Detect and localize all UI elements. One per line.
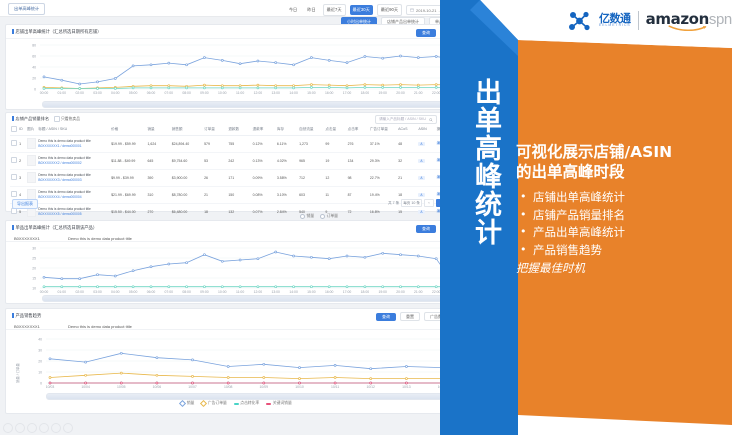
x-tick-label: 02:00 xyxy=(75,290,84,294)
row-checkbox[interactable] xyxy=(11,208,17,214)
product-asin: B0XXXXXXX5 / demo000005 xyxy=(38,212,109,216)
amazon-logo: amazonspn xyxy=(646,10,732,31)
table-cell-6: $9,754.60 xyxy=(171,152,203,169)
svg-text:20: 20 xyxy=(32,77,36,81)
table-col-3: 标题 / ASIN / SKU xyxy=(37,124,110,135)
series-point xyxy=(328,258,330,260)
table-cell-16[interactable]: A xyxy=(417,169,435,186)
brand-sub: EELMETRICS xyxy=(599,24,631,27)
x-tick-label: 11:00 xyxy=(236,91,244,95)
series-point xyxy=(364,286,366,288)
legend-swatch xyxy=(266,403,271,405)
svg-text:30: 30 xyxy=(32,247,36,251)
series-point xyxy=(364,56,366,58)
legend-swatch xyxy=(200,400,207,407)
x-tick-label: 17:00 xyxy=(343,290,352,294)
table-col-15: ACoS xyxy=(397,124,417,135)
series-point xyxy=(400,55,402,57)
table-cell-5: 645 xyxy=(146,152,170,169)
series-point xyxy=(203,84,205,86)
series-point xyxy=(299,378,301,380)
card-product-ranking: 店铺产品销量排名 只看热卖品 请输入产品标题 / ASIN / SKU 搜索 xyxy=(5,112,467,212)
card4-asin: B0XXXXXXX1 xyxy=(14,324,40,329)
table-cell-8: 150 xyxy=(227,186,251,203)
series-point xyxy=(310,84,312,86)
series-point xyxy=(405,366,407,368)
table-col-4: 价格 xyxy=(110,124,146,135)
table-cell-16[interactable]: A xyxy=(417,152,435,169)
table-cell-4: $15.50 - $44.00 xyxy=(110,203,146,220)
series-point xyxy=(85,361,87,363)
table-cell-0[interactable] xyxy=(10,152,18,169)
legend-item-1[interactable]: 广告订单量 xyxy=(201,401,226,406)
row-checkbox[interactable] xyxy=(11,157,17,163)
table-cell-15: 32 xyxy=(397,152,417,169)
x-tick-label: 00:00 xyxy=(40,290,49,294)
poster-bullet-1: 店铺出单高峰统计 xyxy=(516,189,722,207)
chart-single-peak-svg: 3025 201510 00:0001:0002:0003:0004:0005:… xyxy=(6,243,466,297)
series-point xyxy=(417,255,419,257)
series-point xyxy=(221,260,223,262)
table-cell-11: 712 xyxy=(298,169,324,186)
card-store-peak-header: 店铺出单高峰统计（汇总所选日期所有店铺） 查询 重置 xyxy=(6,25,466,39)
x-tick-label: 19:00 xyxy=(378,290,387,294)
select-all-checkbox[interactable] xyxy=(11,126,17,132)
table-cell-8: 132 xyxy=(227,203,251,220)
series-point xyxy=(79,83,81,85)
series-point xyxy=(186,262,188,264)
x-tick-label: 08:00 xyxy=(182,290,191,294)
x-tick-label: 10/11 xyxy=(331,385,339,389)
export-button[interactable]: 导出报表 xyxy=(12,199,38,209)
table-cell-4: $19.99 - $59.99 xyxy=(110,135,146,152)
series-point xyxy=(221,59,223,61)
table-header-row: ID图片标题 / ASIN / SKU价格销量销售额订单量退款数退款率库存自然流… xyxy=(10,124,462,135)
series-point xyxy=(227,377,229,379)
series-point xyxy=(328,59,330,61)
slide-root: 出单高峰统计 今日 昨日 最近7天 最近30天 最近90天 2019-10-21… xyxy=(0,0,732,435)
table-col-13: 点击率 xyxy=(347,124,369,135)
chart-store-peak-scrollbar[interactable] xyxy=(42,101,456,108)
series-point xyxy=(97,81,99,83)
table-cell-14: 37.1% xyxy=(369,135,397,152)
series-point xyxy=(239,63,241,65)
series-point xyxy=(310,286,312,288)
series-point xyxy=(346,62,348,64)
series-point xyxy=(150,286,152,288)
table-search-input[interactable]: 请输入产品标题 / ASIN / SKU xyxy=(375,115,437,124)
x-tick-label: 10/09 xyxy=(260,385,269,389)
series-point xyxy=(43,76,45,78)
x-tick-label: 07:00 xyxy=(165,290,174,294)
table-cell-1: 1 xyxy=(18,135,26,152)
series-point xyxy=(227,366,229,368)
series-point xyxy=(61,286,63,288)
series-point xyxy=(417,86,419,88)
series-point xyxy=(61,79,63,81)
table-cell-5: 390 xyxy=(146,169,170,186)
row-checkbox[interactable] xyxy=(11,191,17,197)
series-point xyxy=(334,364,336,366)
series-point xyxy=(43,286,45,288)
table-cell-3: Demo this is demo data product titleB0XX… xyxy=(37,203,110,220)
filter-7days[interactable]: 最近7天 xyxy=(323,4,346,16)
table-cell-12: 19 xyxy=(324,152,346,169)
social-icon-row xyxy=(3,423,73,433)
table-cell-0[interactable] xyxy=(10,169,18,186)
table-cell-10: 6.11% xyxy=(276,135,298,152)
x-tick-label: 11:00 xyxy=(236,290,244,294)
chart3-radio-group: 销量 订单量 xyxy=(300,214,338,219)
poster-bullet-2: 店铺产品销量排名 xyxy=(516,207,722,225)
x-tick-label: 18:00 xyxy=(361,91,370,95)
table-cell-3: Demo this is demo data product titleB0XX… xyxy=(37,135,110,152)
card-sales-trend: 产品销售趋势 查询 重置 广告数据对比 B0XXXXXXX1 Demo this… xyxy=(5,308,467,414)
x-tick-label: 10/12 xyxy=(366,385,375,389)
play-icon[interactable] xyxy=(15,423,25,433)
table-cell-7: 579 xyxy=(203,135,227,152)
product-asin: B0XXXXXXX2 / demo000002 xyxy=(38,161,109,165)
x-tick-label: 05:00 xyxy=(129,290,138,294)
query-button-4[interactable]: 查询 xyxy=(376,313,396,321)
more-icon[interactable] xyxy=(63,423,73,433)
series-point xyxy=(405,382,407,384)
filter-30days[interactable]: 最近30天 xyxy=(350,5,373,15)
poster-footnote: 把握最佳时机 xyxy=(516,260,722,276)
x-tick-label: 16:00 xyxy=(325,290,334,294)
table-cell-16[interactable]: A xyxy=(417,135,435,152)
chart-store-peak: 8060 40200 00:0001:0002:0003:0004:0005:0… xyxy=(6,39,466,97)
table-cell-6: $3,900.00 xyxy=(171,169,203,186)
filter-90days[interactable]: 最近90天 xyxy=(377,4,402,16)
table-cell-12: 99 xyxy=(324,135,346,152)
x-tick-label: 10/07 xyxy=(188,385,197,389)
table-col-14: 广告订单量 xyxy=(369,124,397,135)
series-point xyxy=(310,86,312,88)
table-col-1: ID xyxy=(18,124,26,135)
asin-tag[interactable]: A xyxy=(418,210,424,214)
radio-orders[interactable]: 订单量 xyxy=(320,214,338,219)
series-point xyxy=(417,84,419,86)
series-point xyxy=(49,377,51,379)
legend-item-3[interactable]: 关键词销量 xyxy=(266,401,291,406)
table-cell-6: $24,894.40 xyxy=(171,135,203,152)
card3-product-title: Demo this is demo data product title xyxy=(68,236,132,241)
x-tick-label: 10:00 xyxy=(218,290,227,294)
series-point xyxy=(114,286,116,288)
x-tick-label: 06:00 xyxy=(147,91,156,95)
query-button[interactable]: 查询 xyxy=(416,29,436,37)
x-tick-label: 17:00 xyxy=(343,91,352,95)
table-header-bar: 店铺产品销量排名 只看热卖品 xyxy=(12,116,80,122)
series-point xyxy=(203,57,205,59)
asin-tag[interactable]: A xyxy=(418,159,424,163)
table-cell-4: $9.99 - $39.99 xyxy=(110,169,146,186)
series-point xyxy=(239,85,241,87)
edit-icon[interactable] xyxy=(27,423,37,433)
zoom-icon[interactable] xyxy=(51,423,61,433)
series-point xyxy=(227,382,229,384)
series-point xyxy=(114,78,116,80)
series-point xyxy=(79,88,81,90)
row-checkbox[interactable] xyxy=(11,174,17,180)
radio-sales[interactable]: 销量 xyxy=(300,214,314,219)
product-thumbnail xyxy=(27,172,36,183)
series-point xyxy=(400,254,402,256)
x-tick-label: 10/04 xyxy=(81,385,90,389)
x-tick-label: 10/06 xyxy=(153,385,162,389)
product-asin: B0XXXXXXX3 / demo000003 xyxy=(38,178,109,182)
x-tick-label: 10/03 xyxy=(46,385,55,389)
chart-sales-trend-scrollbar[interactable] xyxy=(46,393,448,400)
series-point xyxy=(293,255,295,257)
page-prev[interactable]: ‹ xyxy=(424,199,434,207)
series-point xyxy=(382,84,384,86)
series-point xyxy=(156,357,158,359)
series-point xyxy=(334,382,336,384)
table-cell-1: 2 xyxy=(18,152,26,169)
x-tick-label: 04:00 xyxy=(111,290,120,294)
poster-bullet-4: 产品销售趋势 xyxy=(516,242,722,260)
x-tick-label: 01:00 xyxy=(58,91,67,95)
svg-text:0: 0 xyxy=(40,382,42,386)
title-accent-bar xyxy=(12,29,14,34)
series-point xyxy=(168,85,170,87)
table-title: 店铺产品销量排名 xyxy=(12,116,49,122)
poster-vertical-title: 出单高峰统计 xyxy=(462,78,500,246)
series-point xyxy=(186,64,188,66)
series-point xyxy=(168,62,170,64)
poster-headline-2: 的出单高峰时段 xyxy=(516,162,722,182)
series-line-0 xyxy=(44,56,454,84)
chart-sales-trend-legend: 销量广告订单量点击转化率关键词销量 xyxy=(6,401,466,406)
asin-tag[interactable]: A xyxy=(418,176,424,180)
series-point xyxy=(370,382,372,384)
x-tick-label: 06:00 xyxy=(147,290,156,294)
asin-tag[interactable]: A xyxy=(418,142,424,146)
series-point xyxy=(203,254,205,256)
series-point xyxy=(275,85,277,87)
series-point xyxy=(79,286,81,288)
series-point xyxy=(150,85,152,87)
filter-yesterday[interactable]: 昨日 xyxy=(304,5,318,15)
series-point xyxy=(263,382,265,384)
series-point xyxy=(370,368,372,370)
reset-button-4[interactable]: 重置 xyxy=(400,312,420,321)
logo-divider xyxy=(638,11,639,30)
share-icon[interactable] xyxy=(3,423,13,433)
tab-chip[interactable]: 出单高峰统计 xyxy=(8,3,45,15)
poster-text-block: 可视化展示店铺/ASIN 的出单高峰时段 店铺出单高峰统计店铺产品销量排名产品出… xyxy=(516,142,722,276)
table-cell-7: 21 xyxy=(203,186,227,203)
series-point xyxy=(132,270,134,272)
search-icon[interactable] xyxy=(429,118,433,122)
x-tick-label: 08:00 xyxy=(182,91,191,95)
filter-today[interactable]: 今日 xyxy=(286,5,300,15)
series-point xyxy=(382,86,384,88)
table-row[interactable]: 1Demo this is demo data product titleB0X… xyxy=(10,135,462,152)
series-point xyxy=(275,87,277,89)
card3-asin: B0XXXXXXX1 xyxy=(14,236,40,241)
x-tick-label: 18:00 xyxy=(361,290,370,294)
chart-single-peak-scrollbar[interactable] xyxy=(42,295,456,302)
table-cell-8: 242 xyxy=(227,152,251,169)
series-point xyxy=(43,88,45,90)
series-point xyxy=(257,60,259,62)
table-cell-2 xyxy=(26,135,37,152)
series-point xyxy=(257,286,259,288)
table-col-0[interactable] xyxy=(10,124,18,135)
asin-tag[interactable]: A xyxy=(418,193,424,197)
x-tick-label: 13:00 xyxy=(271,91,280,95)
series-point xyxy=(299,367,301,369)
row-checkbox[interactable] xyxy=(11,140,17,146)
svg-text:25: 25 xyxy=(32,257,36,261)
x-tick-label: 20:00 xyxy=(396,91,405,95)
hot-filter-checkbox[interactable]: 只看热卖品 xyxy=(54,116,80,122)
x-tick-label: 14:00 xyxy=(289,290,298,294)
series-point xyxy=(275,62,277,64)
series-point xyxy=(114,88,116,90)
series-point xyxy=(328,286,330,288)
series-point xyxy=(203,286,205,288)
table-cell-13: 87 xyxy=(347,186,369,203)
table-cell-4: $21.99 - $69.99 xyxy=(110,186,146,203)
series-point xyxy=(257,87,259,89)
x-tick-label: 10/13 xyxy=(402,385,411,389)
add-icon[interactable] xyxy=(39,423,49,433)
table-col-5: 销量 xyxy=(146,124,170,135)
series-point xyxy=(382,252,384,254)
x-tick-label: 03:00 xyxy=(93,290,102,294)
series-point xyxy=(168,263,170,265)
series-point xyxy=(364,256,366,258)
series-point xyxy=(192,359,194,361)
series-point xyxy=(346,85,348,87)
series-point xyxy=(275,251,277,253)
chart-sales-trend: 4030 20100 10/0310/0410/0510/0610/0710/0… xyxy=(6,333,466,391)
x-tick-label: 13:00 xyxy=(271,290,280,294)
table-search-placeholder: 请输入产品标题 / ASIN / SKU xyxy=(379,117,426,122)
series-point xyxy=(435,286,437,288)
checkbox-icon xyxy=(54,116,60,122)
table-cell-10: 3.10% xyxy=(276,186,298,203)
series-point xyxy=(150,266,152,268)
table-col-11: 自然流量 xyxy=(298,124,324,135)
series-point xyxy=(239,87,241,89)
table-cell-10: 3.58% xyxy=(276,169,298,186)
series-point xyxy=(400,84,402,86)
legend-item-0[interactable]: 销量 xyxy=(180,401,194,406)
table-cell-5: 270 xyxy=(146,203,170,220)
legend-label: 点击转化率 xyxy=(240,401,259,406)
svg-text:20: 20 xyxy=(38,360,42,364)
table-cell-2 xyxy=(26,169,37,186)
series-line-1 xyxy=(50,373,442,379)
series-point xyxy=(61,278,63,280)
table-cell-9: 0.09% xyxy=(252,169,276,186)
series-point xyxy=(417,57,419,59)
series-point xyxy=(192,382,194,384)
svg-text:80: 80 xyxy=(32,44,36,48)
table-cell-13: 134 xyxy=(347,152,369,169)
series-point xyxy=(61,88,63,90)
table-row[interactable]: 3Demo this is demo data product titleB0X… xyxy=(10,169,462,186)
series-point xyxy=(239,286,241,288)
series-point xyxy=(114,275,116,277)
query-button-3[interactable]: 查询 xyxy=(416,225,436,233)
card-store-peak-title: 店铺出单高峰统计（汇总所选日期所有店铺） xyxy=(12,29,101,35)
table-col-6: 销售额 xyxy=(171,124,203,135)
series-point xyxy=(364,84,366,86)
table-cell-15: 48 xyxy=(397,135,417,152)
table-cell-12: 12 xyxy=(324,169,346,186)
series-point xyxy=(417,286,419,288)
x-tick-label: 20:00 xyxy=(396,290,405,294)
table-cell-2 xyxy=(26,152,37,169)
table-cell-0[interactable] xyxy=(10,135,18,152)
page-size-select[interactable]: 每页 10 条 xyxy=(401,199,422,207)
card-single-peak: 单品出单高峰统计（汇总所选日期该产品） 查询 重置 B0XXXXXXX1 Dem… xyxy=(5,220,467,304)
svg-text:60: 60 xyxy=(32,55,36,59)
product-thumbnail xyxy=(27,138,36,149)
series-point xyxy=(168,286,170,288)
x-tick-label: 01:00 xyxy=(58,290,67,294)
product-thumbnail xyxy=(27,155,36,166)
legend-item-2[interactable]: 点击转化率 xyxy=(234,401,259,406)
series-point xyxy=(400,286,402,288)
series-point xyxy=(203,87,205,89)
series-point xyxy=(346,286,348,288)
table-cell-9: 0.07% xyxy=(252,203,276,220)
table-col-2: 图片 xyxy=(26,124,37,135)
series-point xyxy=(382,57,384,59)
table-cell-7: 18 xyxy=(203,203,227,220)
series-point xyxy=(132,65,134,67)
legend-swatch xyxy=(234,403,239,405)
chart-store-peak-svg: 8060 40200 00:0001:0002:0003:0004:0005:0… xyxy=(6,39,466,97)
date-start: 2019-10-21 xyxy=(416,8,436,13)
x-tick-label: 10/10 xyxy=(295,385,304,389)
series-point xyxy=(156,374,158,376)
table-cell-13: 276 xyxy=(347,135,369,152)
poster-panel: 亿数通 EELMETRICS amazonspn 出单高峰统计 可视化展示店铺/… xyxy=(440,0,732,435)
series-point xyxy=(156,382,158,384)
table-row[interactable]: 2Demo this is demo data product titleB0X… xyxy=(10,152,462,169)
series-point xyxy=(221,87,223,89)
series-point xyxy=(382,286,384,288)
series-point xyxy=(132,286,134,288)
x-tick-label: 10/05 xyxy=(117,385,126,389)
series-point xyxy=(221,286,223,288)
series-point xyxy=(310,57,312,59)
product-thumbnail xyxy=(27,189,36,200)
table-cell-14: 29.3% xyxy=(369,152,397,169)
x-tick-label: 09:00 xyxy=(200,290,209,294)
poster-bullet-3: 产品出单高峰统计 xyxy=(516,224,722,242)
series-point xyxy=(97,274,99,276)
table-col-9: 退款率 xyxy=(252,124,276,135)
table-cell-9: 0.13% xyxy=(252,152,276,169)
logo-lockup: 亿数通 EELMETRICS amazonspn xyxy=(568,10,732,31)
x-tick-label: 19:00 xyxy=(378,91,387,95)
svg-text:30: 30 xyxy=(38,349,42,353)
table-col-10: 库存 xyxy=(276,124,298,135)
series-point xyxy=(49,382,51,384)
card-sales-trend-title: 产品销售趋势 xyxy=(12,313,41,319)
table-cell-8: 171 xyxy=(227,169,251,186)
svg-text:20: 20 xyxy=(32,267,36,271)
